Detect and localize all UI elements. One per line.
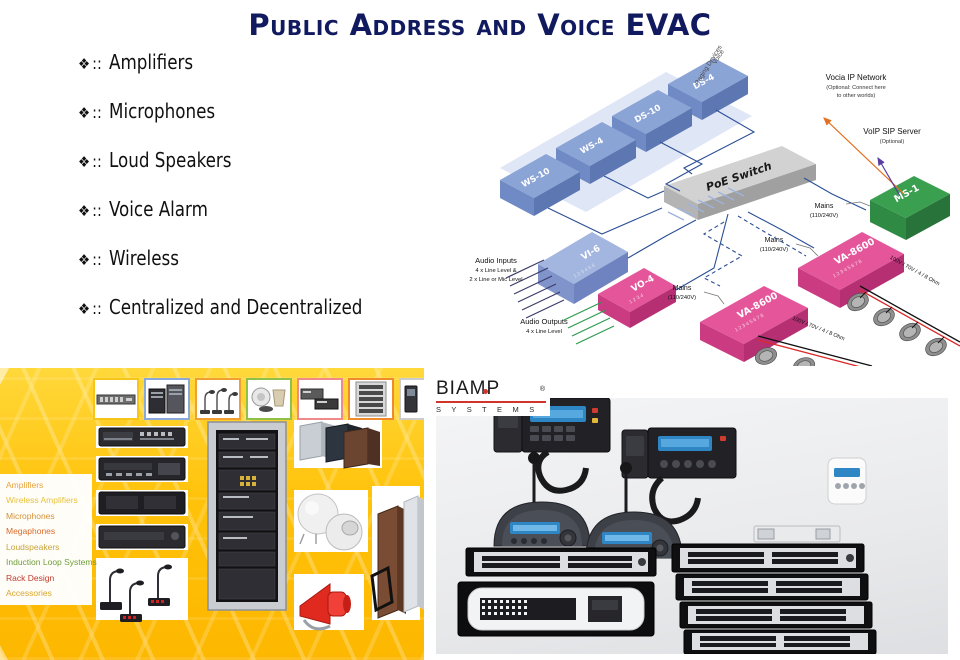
bullet-label-voice-alarm: Voice Alarm (109, 197, 208, 221)
poe-switch: PoE Switch (664, 146, 816, 220)
biamp-vocia-product-photo: BIAMP ® S Y S T E M S (424, 368, 960, 660)
bullet-label-wireless: Wireless (109, 246, 179, 270)
product-catalogue-panel: Amplifiers Wireless Amplifiers Microphon… (0, 368, 424, 660)
menu-item-label: Microphones (6, 511, 55, 521)
bullet-label-amplifiers: Amplifiers (109, 50, 193, 74)
rack-unit-right-3 (680, 602, 872, 628)
menu-item-accessories[interactable]: Accessories (4, 586, 92, 602)
ceiling-speakers-thumb[interactable] (246, 378, 292, 420)
vocia-system-diagram: DS-4 DS-10 WS-4 WS-10 Voice Paging Devic… (452, 36, 960, 366)
rack-unit-left-bottom (458, 582, 654, 636)
list-item: ❖ :: Voice Alarm (78, 197, 438, 221)
server-ms-1: MS-1 (870, 176, 950, 240)
menu-item-wireless-amplifiers[interactable]: Wireless Amplifiers (4, 493, 92, 509)
mixer-amplifier-thumb[interactable] (297, 378, 343, 420)
svg-text:(110/240V): (110/240V) (668, 295, 696, 301)
menu-item-label: Accessories (6, 588, 52, 598)
menu-item-rack-design[interactable]: Rack Design (4, 570, 92, 586)
list-item: ❖ :: Microphones (78, 99, 438, 123)
menu-item-megaphones[interactable]: Megaphones (4, 524, 92, 540)
diamond-bullet-icon: ❖ (78, 204, 90, 219)
diamond-bullet-icon: ❖ (78, 155, 90, 170)
wall-control-panel (828, 458, 866, 504)
rack-unit-right-2 (676, 574, 868, 600)
bullet-label-loud-speakers: Loud Speakers (109, 148, 231, 172)
biamp-logo: BIAMP ® S Y S T E M S (432, 376, 550, 416)
svg-text:2 x Line or Mic Level: 2 x Line or Mic Level (469, 277, 522, 283)
svg-text:(110/240V): (110/240V) (810, 213, 838, 219)
equipment-rack (208, 422, 286, 610)
list-item: ❖ :: Loud Speakers (78, 148, 438, 172)
rack-amplifier-thumb[interactable] (93, 378, 139, 420)
menu-item-label: Megaphones (6, 526, 55, 536)
mains-label-2: Mains (765, 237, 784, 244)
menu-item-microphones[interactable]: Microphones (4, 508, 92, 524)
menu-item-label: Induction Loop Systems (6, 557, 97, 567)
svg-text:to other worlds): to other worlds) (837, 93, 876, 99)
bottom-panels: Amplifiers Wireless Amplifiers Microphon… (0, 368, 960, 660)
vocia-equipment-illustration (436, 398, 948, 654)
equipment-rack-thumb[interactable] (348, 378, 394, 420)
svg-text:(110/240V): (110/240V) (760, 247, 788, 253)
gooseneck-microphones-thumb[interactable] (195, 378, 241, 420)
diamond-bullet-icon: ❖ (78, 57, 90, 72)
bullet-separator: :: (92, 250, 102, 269)
list-item: ❖ :: Centralized and Decentralized (78, 295, 438, 319)
amplifier-va-8600-front: VA-8600 1 2 3 4 5 6 7 8 (700, 286, 808, 362)
diamond-bullet-icon: ❖ (78, 253, 90, 268)
list-item: ❖ :: Wireless (78, 246, 438, 270)
vocia-equipment-scene (436, 398, 948, 654)
biamp-rule-divider (436, 401, 546, 403)
bullet-separator: :: (92, 299, 102, 318)
bullet-separator: :: (92, 152, 102, 171)
amplifier-stack-thumb[interactable] (144, 378, 190, 420)
audio-inputs-title: Audio Inputs (475, 256, 517, 265)
mains-label-1: Mains (673, 285, 692, 292)
menu-item-label: Wireless Amplifiers (6, 495, 78, 505)
rack-unit-left-top (466, 548, 656, 576)
portable-pa-thumb[interactable] (399, 378, 424, 420)
menu-item-label: Amplifiers (6, 480, 43, 490)
mains-label-3: Mains (815, 203, 834, 210)
menu-item-label: Loudspeakers (6, 542, 59, 552)
vocia-ip-network-label: Vocia IP Network (826, 73, 888, 82)
menu-item-amplifiers[interactable]: Amplifiers (4, 477, 92, 493)
desk-paging-station-1 (494, 452, 590, 546)
voip-sip-server-label: VoIP SIP Server (863, 127, 921, 136)
svg-text:(Optional): (Optional) (880, 139, 905, 145)
biamp-tagline: S Y S T E M S (436, 405, 546, 414)
bullet-separator: :: (92, 103, 102, 122)
menu-item-label: Rack Design (6, 573, 54, 583)
svg-text:(Optional: Connect here: (Optional: Connect here (826, 85, 885, 91)
bullet-label-centralized: Centralized and Decentralized (109, 295, 362, 319)
registered-trademark-icon: ® (540, 386, 546, 393)
feature-bullet-list: ❖ :: Amplifiers ❖ :: Microphones ❖ :: Lo… (78, 50, 438, 344)
diamond-bullet-icon: ❖ (78, 302, 90, 317)
biamp-wordmark: BIAMP ® (436, 378, 546, 400)
amplifier-va-8600-back: VA-8600 1 2 3 4 5 6 7 8 (798, 232, 904, 308)
biamp-wordmark-text: BIAMP (436, 378, 500, 400)
bullet-separator: :: (92, 54, 102, 73)
category-menu: Amplifiers Wireless Amplifiers Microphon… (0, 474, 92, 605)
svg-text:4 x Line Level: 4 x Line Level (526, 329, 562, 335)
rack-unit-right-1 (672, 544, 864, 572)
wall-paging-station-2 (622, 428, 736, 522)
menu-item-loudspeakers[interactable]: Loudspeakers (4, 539, 92, 555)
bullet-label-microphones: Microphones (109, 99, 215, 123)
biamp-red-dot-icon (483, 389, 488, 394)
svg-text:4 x Line Level &: 4 x Line Level & (475, 268, 516, 274)
product-icon-strip (93, 378, 424, 420)
bullet-separator: :: (92, 201, 102, 220)
list-item: ❖ :: Amplifiers (78, 50, 438, 74)
menu-item-induction-loop-systems[interactable]: Induction Loop Systems (4, 555, 92, 571)
diamond-bullet-icon: ❖ (78, 106, 90, 121)
audio-outputs-title: Audio Outputs (520, 317, 568, 326)
rack-unit-right-4 (684, 630, 876, 654)
